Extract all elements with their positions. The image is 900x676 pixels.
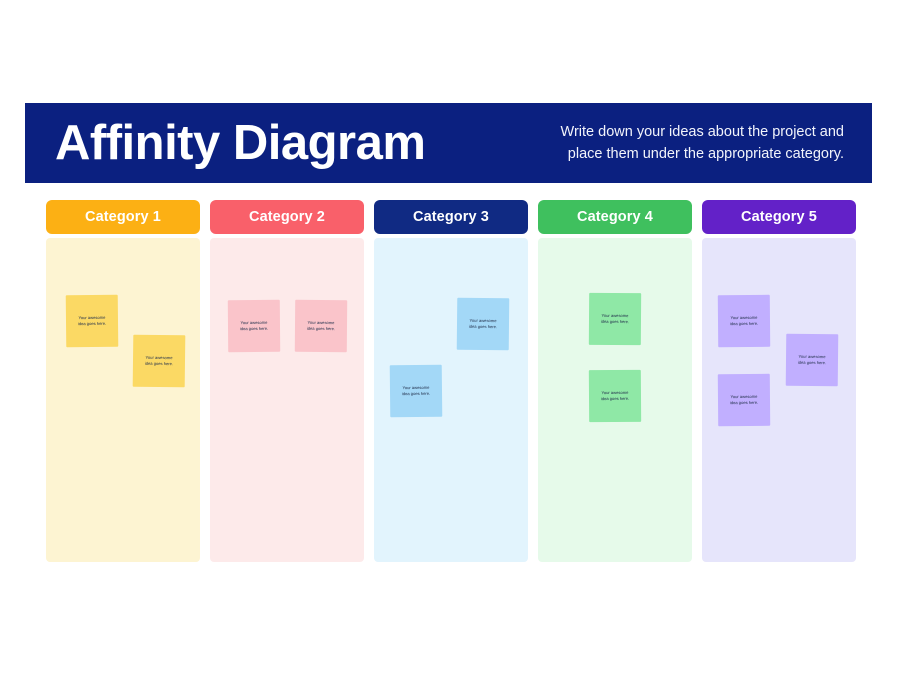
header-instructions-line1: Write down your ideas about the project … — [561, 121, 844, 143]
sticky-note[interactable]: Your awesomeidea goes here. — [589, 370, 641, 422]
category-header-category-5[interactable]: Category 5 — [702, 200, 856, 234]
category-column-category-3: Category 3Your awesomeidea goes here.You… — [374, 200, 528, 562]
category-dropzone-category-5[interactable]: Your awesomeidea goes here.Your awesomei… — [702, 238, 856, 562]
sticky-note-text: Your awesomeidea goes here. — [730, 394, 758, 407]
sticky-note[interactable]: Your awesomeidea goes here. — [133, 335, 186, 388]
category-header-category-4[interactable]: Category 4 — [538, 200, 692, 234]
category-dropzone-category-2[interactable]: Your awesomeidea goes here.Your awesomei… — [210, 238, 364, 562]
category-column-category-1: Category 1Your awesomeidea goes here.You… — [46, 200, 200, 562]
category-dropzone-category-3[interactable]: Your awesomeidea goes here.Your awesomei… — [374, 238, 528, 562]
category-column-category-4: Category 4Your awesomeidea goes here.You… — [538, 200, 692, 562]
sticky-note-line2: idea goes here. — [601, 319, 629, 325]
sticky-note[interactable]: Your awesomeidea goes here. — [228, 300, 280, 352]
category-dropzone-category-4[interactable]: Your awesomeidea goes here.Your awesomei… — [538, 238, 692, 562]
sticky-note-text: Your awesomeidea goes here. — [145, 355, 173, 368]
sticky-note-line2: idea goes here. — [402, 391, 430, 397]
sticky-note-line2: idea goes here. — [145, 361, 173, 367]
sticky-note[interactable]: Your awesomeidea goes here. — [295, 300, 347, 352]
sticky-note-text: Your awesomeidea goes here. — [730, 315, 758, 328]
page-title: Affinity Diagram — [55, 119, 425, 168]
category-label: Category 4 — [577, 209, 653, 225]
sticky-note[interactable]: Your awesomeidea goes here. — [390, 365, 443, 418]
sticky-note-line2: idea goes here. — [601, 396, 629, 402]
sticky-note-line2: idea goes here. — [469, 324, 497, 330]
sticky-note-text: Your awesomeidea goes here. — [798, 354, 826, 367]
sticky-note[interactable]: Your awesomeidea goes here. — [786, 334, 839, 387]
sticky-note[interactable]: Your awesomeidea goes here. — [718, 295, 770, 347]
sticky-note-line2: idea goes here. — [730, 321, 758, 327]
sticky-note-text: Your awesomeidea goes here. — [601, 390, 629, 402]
category-header-category-3[interactable]: Category 3 — [374, 200, 528, 234]
sticky-note-line2: idea goes here. — [798, 360, 826, 366]
sticky-note-text: Your awesomeidea goes here. — [601, 313, 629, 325]
sticky-note-text: Your awesomeidea goes here. — [240, 320, 268, 333]
category-header-category-1[interactable]: Category 1 — [46, 200, 200, 234]
category-column-category-5: Category 5Your awesomeidea goes here.You… — [702, 200, 856, 562]
sticky-note-line2: idea goes here. — [240, 326, 268, 332]
category-label: Category 5 — [741, 209, 817, 225]
sticky-note[interactable]: Your awesomeidea goes here. — [66, 295, 119, 348]
category-header-category-2[interactable]: Category 2 — [210, 200, 364, 234]
category-label: Category 3 — [413, 209, 489, 225]
sticky-note-text: Your awesomeidea goes here. — [78, 315, 106, 328]
affinity-diagram-canvas: Affinity Diagram Write down your ideas a… — [0, 0, 900, 676]
category-column-category-2: Category 2Your awesomeidea goes here.You… — [210, 200, 364, 562]
category-board: Category 1Your awesomeidea goes here.You… — [46, 200, 856, 562]
sticky-note-line2: idea goes here. — [730, 400, 758, 406]
sticky-note-text: Your awesomeidea goes here. — [469, 318, 497, 331]
sticky-note-text: Your awesomeidea goes here. — [307, 320, 335, 333]
category-label: Category 1 — [85, 209, 161, 225]
sticky-note-line2: idea goes here. — [78, 321, 106, 327]
header-banner: Affinity Diagram Write down your ideas a… — [25, 103, 872, 183]
sticky-note[interactable]: Your awesomeidea goes here. — [718, 374, 770, 426]
header-instructions-line2: place them under the appropriate categor… — [561, 143, 844, 165]
sticky-note[interactable]: Your awesomeidea goes here. — [589, 293, 641, 345]
sticky-note-text: Your awesomeidea goes here. — [402, 385, 430, 398]
category-dropzone-category-1[interactable]: Your awesomeidea goes here.Your awesomei… — [46, 238, 200, 562]
sticky-note-line2: idea goes here. — [307, 326, 335, 332]
header-instructions: Write down your ideas about the project … — [561, 121, 844, 166]
sticky-note[interactable]: Your awesomeidea goes here. — [457, 298, 510, 351]
category-label: Category 2 — [249, 209, 325, 225]
